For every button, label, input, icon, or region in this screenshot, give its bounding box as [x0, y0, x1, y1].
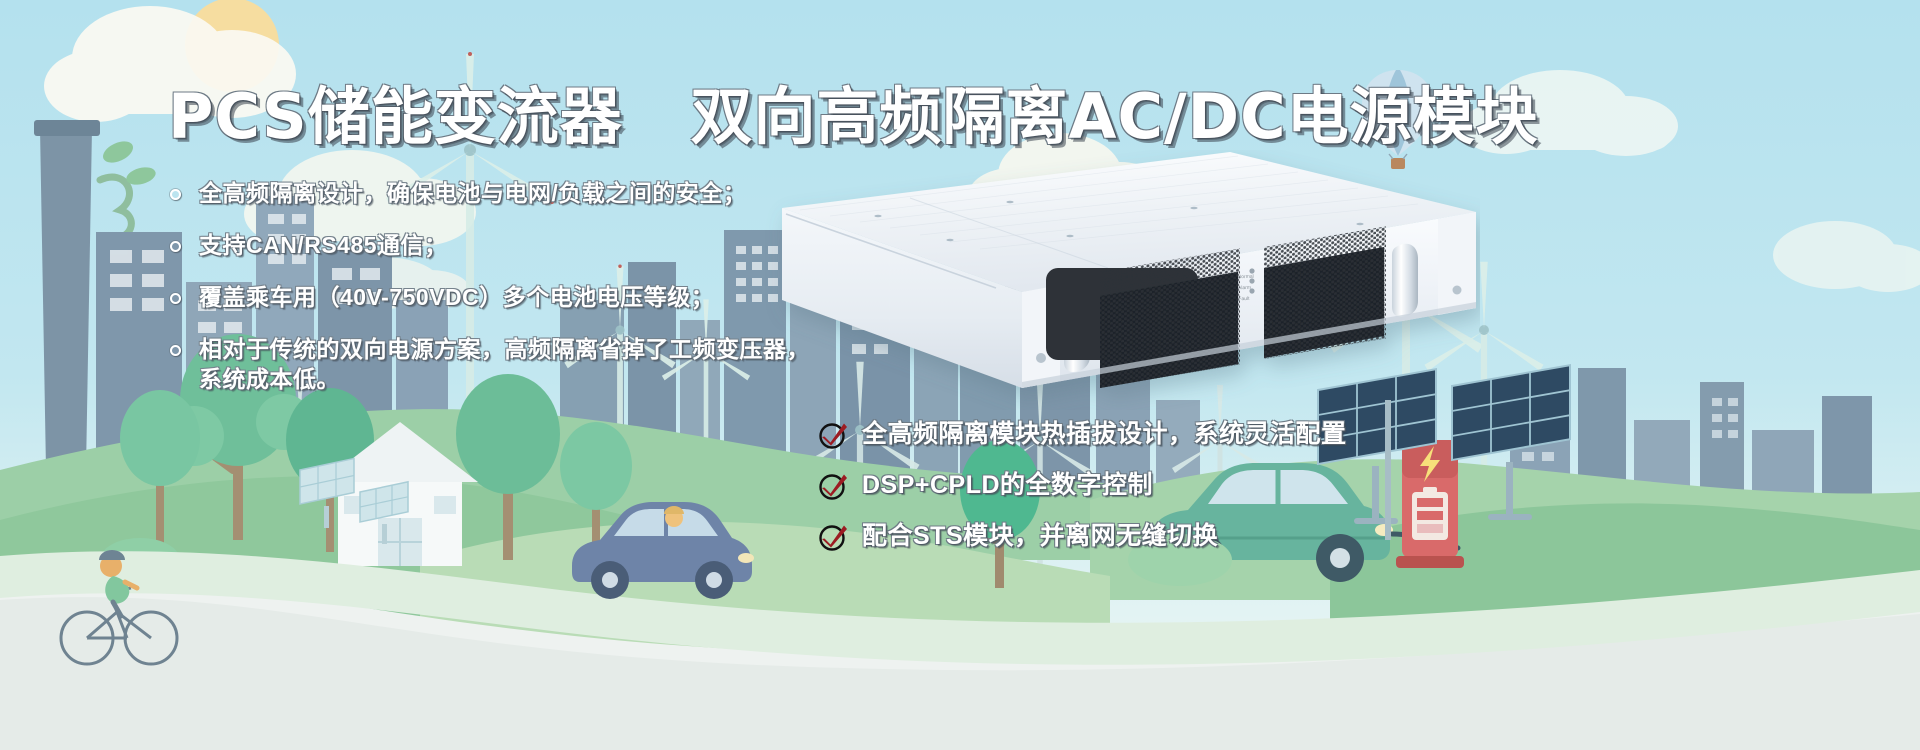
- feature-item: 相对于传统的双向电源方案，高频隔离省掉了工频变压器， 系统成本低。: [170, 334, 930, 394]
- ring-bullet-icon: [170, 241, 181, 252]
- car-icon: [572, 502, 754, 599]
- highlight-text: DSP+CPLD的全数字控制: [862, 469, 1153, 501]
- feature-item: 支持CAN/RS485通信；: [170, 230, 930, 260]
- check-circle-icon: [818, 520, 850, 552]
- led-label-fault: Fault: [1238, 294, 1254, 306]
- feature-text: 支持CAN/RS485通信；: [199, 230, 448, 260]
- highlight-item: 配合STS模块，并离网无缝切换: [818, 520, 1458, 552]
- cyclist-icon: [61, 550, 177, 664]
- feature-text: 相对于传统的双向电源方案，高频隔离省掉了工频变压器， 系统成本低。: [199, 334, 810, 394]
- banner-title: PCS储能变流器 双向高频隔离AC/DC电源模块: [168, 66, 1539, 156]
- ring-bullet-icon: [170, 345, 181, 356]
- led-label-normal: Normal: [1237, 272, 1253, 284]
- device-flange-right: [1438, 212, 1476, 315]
- highlight-item: DSP+CPLD的全数字控制: [818, 469, 1458, 501]
- feature-text: 全高频隔离设计，确保电池与电网/负载之间的安全；: [199, 178, 746, 208]
- check-circle-icon: [818, 418, 850, 450]
- feature-item: 全高频隔离设计，确保电池与电网/负载之间的安全；: [170, 178, 930, 208]
- check-circle-icon: [818, 469, 850, 501]
- highlight-item: 全高频隔离模块热插拔设计，系统灵活配置: [818, 418, 1458, 450]
- feature-item: 覆盖乘车用（40V-750VDC）多个电池电压等级；: [170, 282, 930, 312]
- device-led-labels: Normal Alarm Fault: [1237, 272, 1254, 306]
- ring-bullet-icon: [170, 189, 181, 200]
- promotional-banner: Normal Alarm Fault PCS储能变流器 双向高频隔离AC/DC电…: [0, 0, 1920, 750]
- feature-list: 全高频隔离设计，确保电池与电网/负载之间的安全； 支持CAN/RS485通信； …: [170, 178, 930, 416]
- led-label-alarm: Alarm: [1238, 283, 1254, 295]
- feature-text: 覆盖乘车用（40V-750VDC）多个电池电压等级；: [199, 282, 714, 312]
- ring-bullet-icon: [170, 293, 181, 304]
- highlight-list: 全高频隔离模块热插拔设计，系统灵活配置 DSP+CPLD的全数字控制 配合STS…: [818, 418, 1458, 571]
- highlight-text: 配合STS模块，并离网无缝切换: [862, 520, 1218, 552]
- highlight-text: 全高频隔离模块热插拔设计，系统灵活配置: [862, 418, 1347, 450]
- device-handle-right: [1392, 244, 1418, 317]
